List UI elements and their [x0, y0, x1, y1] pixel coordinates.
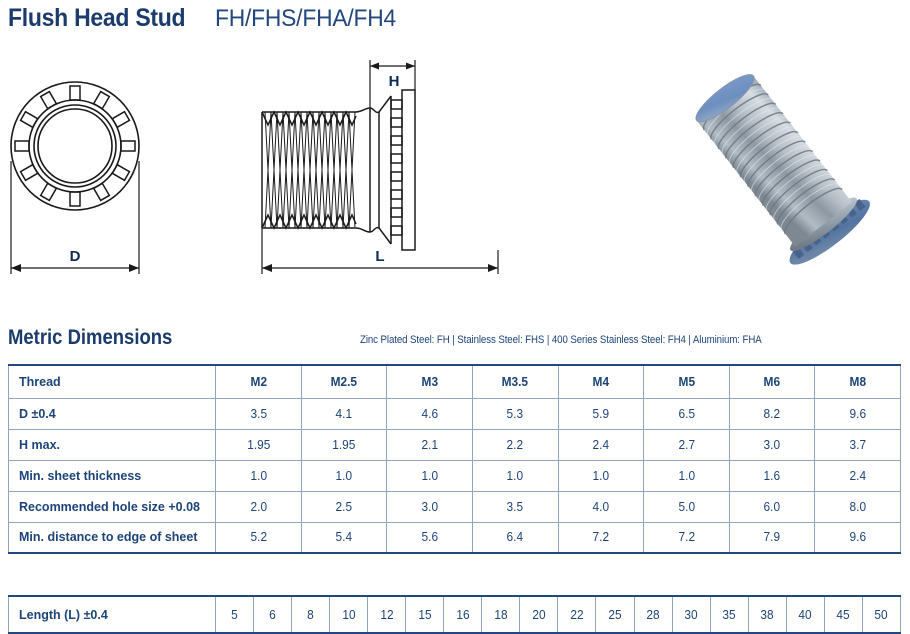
cell: 3.5 [218, 398, 299, 429]
cell: 4.0 [560, 491, 641, 522]
cell: 2.2 [475, 429, 556, 460]
table-row: Recommended hole size +0.08 2.0 2.5 3.0 … [9, 491, 901, 522]
cell: 4.1 [303, 398, 384, 429]
length-cell: 30 [672, 596, 710, 633]
length-value: 5 [231, 608, 238, 622]
drawing-panel: D [0, 46, 910, 296]
column-header-m4: M4 [560, 365, 641, 398]
length-cell: 50 [862, 596, 900, 633]
cell: 7.9 [731, 522, 812, 553]
length-value: 18 [494, 608, 507, 622]
section-subtitle: Zinc Plated Steel: FH | Stainless Steel:… [360, 334, 762, 346]
length-value: 8 [307, 608, 314, 622]
cell: 5.6 [389, 522, 470, 553]
cell: 2.7 [646, 429, 727, 460]
column-header-m5: M5 [646, 365, 727, 398]
cell: 1.0 [218, 460, 299, 491]
length-value: 45 [837, 608, 850, 622]
cell: 5.3 [475, 398, 556, 429]
length-value: 6 [269, 608, 276, 622]
cell: 4.6 [389, 398, 470, 429]
cell: 7.2 [560, 522, 641, 553]
length-value: 50 [875, 608, 888, 622]
length-value: 35 [723, 608, 736, 622]
table-row: D ±0.4 3.5 4.1 4.6 5.3 5.9 6.5 8.2 9.6 [9, 398, 901, 429]
cell: 2.4 [817, 460, 898, 491]
front-view-knurled-head: D [0, 46, 200, 296]
column-header-m6: M6 [731, 365, 812, 398]
metric-dimensions-table: Thread M2 M2.5 M3 M3.5 M4 M5 M6 M8 D ±0.… [8, 364, 901, 554]
length-value: 22 [570, 608, 583, 622]
length-value: 30 [684, 608, 697, 622]
length-value: 28 [646, 608, 659, 622]
row-label: Recommended hole size +0.08 [9, 491, 216, 522]
length-value: 10 [342, 608, 355, 622]
section-title: Metric Dimensions [8, 326, 172, 350]
length-row-label: Length (L) ±0.4 [9, 596, 216, 633]
cell: 5.4 [303, 522, 384, 553]
cell: 8.2 [731, 398, 812, 429]
side-view-head-dimension-label: H [389, 73, 400, 90]
cell: 5.0 [646, 491, 727, 522]
row-label: Min. distance to edge of sheet [9, 522, 216, 553]
cell: 1.0 [475, 460, 556, 491]
cell: 3.0 [389, 491, 470, 522]
cell: 6.5 [646, 398, 727, 429]
table-header-row: Thread M2 M2.5 M3 M3.5 M4 M5 M6 M8 [9, 365, 901, 398]
page-header: Flush Head Stud FH/FHS/FHA/FH4 [8, 4, 405, 33]
row-label: H max. [9, 429, 216, 460]
column-header-m3: M3 [389, 365, 470, 398]
side-view-threaded-stud: H L [248, 46, 518, 296]
length-cell: 16 [444, 596, 482, 633]
length-value: 40 [799, 608, 812, 622]
length-table: Length (L) ±0.4 5 6 8 10 12 15 16 18 20 … [8, 595, 901, 634]
cell: 5.9 [560, 398, 641, 429]
3d-render-stud [660, 46, 910, 296]
cell: 1.0 [303, 460, 384, 491]
cell: 1.0 [560, 460, 641, 491]
column-header-m8: M8 [817, 365, 898, 398]
table-row: H max. 1.95 1.95 2.1 2.2 2.4 2.7 3.0 3.7 [9, 429, 901, 460]
length-cell: 28 [634, 596, 672, 633]
cell: 6.4 [475, 522, 556, 553]
length-value: 20 [532, 608, 545, 622]
length-cell: 45 [824, 596, 862, 633]
product-codes: FH/FHS/FHA/FH4 [215, 5, 396, 33]
cell: 9.6 [817, 522, 898, 553]
datasheet-page: Flush Head Stud FH/FHS/FHA/FH4 [0, 0, 910, 634]
length-value: 12 [380, 608, 393, 622]
length-value: 25 [608, 608, 621, 622]
length-cell: 22 [558, 596, 596, 633]
length-row: Length (L) ±0.4 5 6 8 10 12 15 16 18 20 … [9, 596, 901, 633]
length-cell: 12 [368, 596, 406, 633]
cell: 1.6 [731, 460, 812, 491]
length-cell: 8 [292, 596, 330, 633]
row-label: Min. sheet thickness [9, 460, 216, 491]
cell: 3.5 [475, 491, 556, 522]
cell: 9.6 [817, 398, 898, 429]
cell: 2.1 [389, 429, 470, 460]
length-cell: 10 [330, 596, 368, 633]
cell: 3.7 [817, 429, 898, 460]
cell: 1.95 [218, 429, 299, 460]
length-value: 16 [456, 608, 469, 622]
column-header-m35: M3.5 [475, 365, 556, 398]
cell: 2.5 [303, 491, 384, 522]
cell: 2.4 [560, 429, 641, 460]
row-label: D ±0.4 [9, 398, 216, 429]
cell: 1.0 [389, 460, 470, 491]
column-header-thread: Thread [9, 365, 216, 398]
column-header-m2: M2 [218, 365, 299, 398]
cell: 2.0 [218, 491, 299, 522]
cell: 5.2 [218, 522, 299, 553]
length-cell: 5 [216, 596, 254, 633]
length-cell: 35 [710, 596, 748, 633]
cell: 8.0 [817, 491, 898, 522]
page-title: Flush Head Stud [8, 4, 185, 33]
length-cell: 15 [406, 596, 444, 633]
length-cell: 25 [596, 596, 634, 633]
table-row: Min. sheet thickness 1.0 1.0 1.0 1.0 1.0… [9, 460, 901, 491]
length-cell: 38 [748, 596, 786, 633]
cell: 6.0 [731, 491, 812, 522]
front-view-dimension-label: D [70, 248, 81, 265]
cell: 1.0 [646, 460, 727, 491]
cell: 7.2 [646, 522, 727, 553]
column-header-m25: M2.5 [303, 365, 384, 398]
length-value: 38 [761, 608, 774, 622]
length-value: 15 [418, 608, 431, 622]
length-cell: 6 [254, 596, 292, 633]
length-cell: 18 [482, 596, 520, 633]
length-cell: 40 [786, 596, 824, 633]
length-cell: 20 [520, 596, 558, 633]
cell: 3.0 [731, 429, 812, 460]
table-row: Min. distance to edge of sheet 5.2 5.4 5… [9, 522, 901, 553]
cell: 1.95 [303, 429, 384, 460]
section-header: Metric Dimensions Zinc Plated Steel: FH … [8, 326, 902, 356]
side-view-length-dimension-label: L [375, 248, 384, 265]
